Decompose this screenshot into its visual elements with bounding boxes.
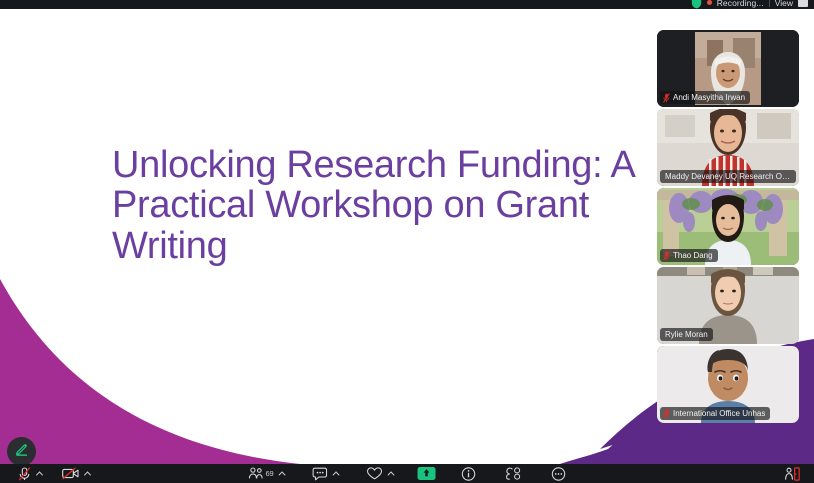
chat-icon: [312, 467, 327, 481]
participants-icon: [249, 467, 264, 480]
meeting-info-button[interactable]: [457, 464, 479, 483]
reactions-button[interactable]: [362, 464, 386, 483]
microphone-muted-icon: [663, 409, 670, 419]
apps-icon: [505, 467, 521, 480]
participant-tile[interactable]: Rylie Moran: [657, 267, 799, 344]
participant-filmstrip: Andi Masyitha Irwan: [657, 30, 799, 423]
recording-label: Recording...: [717, 0, 764, 8]
participant-name: Rylie Moran: [665, 329, 708, 340]
view-label[interactable]: View: [775, 0, 793, 8]
share-screen-icon: [421, 465, 431, 483]
more-options-button[interactable]: [547, 464, 569, 483]
participant-name: Thao Dang: [673, 250, 713, 261]
ellipsis-icon: [551, 467, 565, 481]
topbar-divider: [769, 0, 770, 7]
participant-tile[interactable]: Thao Dang: [657, 188, 799, 265]
meeting-toolbar: 69: [0, 464, 814, 483]
participants-button[interactable]: 69: [245, 464, 278, 483]
unmute-button[interactable]: [14, 464, 35, 483]
microphone-muted-icon: [663, 251, 670, 261]
participant-name-chip: International Office Unhas: [660, 407, 770, 420]
participant-name-chip: Andi Masyitha Irwan: [660, 91, 750, 104]
participant-tile[interactable]: International Office Unhas: [657, 346, 799, 423]
video-options-caret[interactable]: [83, 464, 92, 483]
participant-tile[interactable]: Maddy Devaney UQ Research Office: [657, 109, 799, 186]
meeting-top-bar: Recording... View: [0, 0, 814, 9]
toolbar-center-group: 69: [245, 464, 570, 483]
participant-tile[interactable]: Andi Masyitha Irwan: [657, 30, 799, 107]
participant-name: Andi Masyitha Irwan: [673, 92, 745, 103]
microphone-muted-icon: [18, 467, 31, 481]
layout-icon[interactable]: [798, 0, 808, 7]
heart-icon: [366, 467, 382, 480]
audio-options-caret[interactable]: [35, 464, 44, 483]
chat-button[interactable]: [308, 464, 331, 483]
participant-name: International Office Unhas: [673, 408, 765, 419]
participant-name-chip: Rylie Moran: [660, 328, 713, 341]
participant-name: Maddy Devaney UQ Research Office: [665, 171, 791, 182]
participants-count: 69: [266, 469, 274, 478]
leave-button[interactable]: [780, 464, 804, 483]
share-screen-button[interactable]: [417, 467, 435, 480]
participant-name-chip: Thao Dang: [660, 249, 718, 262]
info-icon: [461, 467, 475, 481]
toolbar-left-group: [14, 464, 92, 483]
slide-title: Unlocking Research Funding: A Practical …: [112, 145, 644, 266]
shield-icon[interactable]: [691, 0, 702, 9]
toolbar-right-group: [780, 464, 804, 483]
top-bar-status-group: Recording... View: [691, 0, 808, 9]
leave-door-icon: [784, 467, 800, 481]
zoom-meeting-window: Recording... View Unlocking Research Fun…: [0, 0, 814, 483]
apps-button[interactable]: [501, 464, 525, 483]
microphone-muted-icon: [663, 93, 670, 103]
recording-dot-icon: [707, 0, 712, 5]
video-off-icon: [62, 467, 79, 480]
pencil-icon: [14, 441, 30, 462]
annotate-button[interactable]: [7, 437, 36, 464]
reactions-options-caret[interactable]: [386, 464, 395, 483]
participants-options-caret[interactable]: [277, 464, 286, 483]
start-video-button[interactable]: [58, 464, 83, 483]
chat-options-caret[interactable]: [331, 464, 340, 483]
participant-name-chip: Maddy Devaney UQ Research Office: [660, 170, 796, 183]
